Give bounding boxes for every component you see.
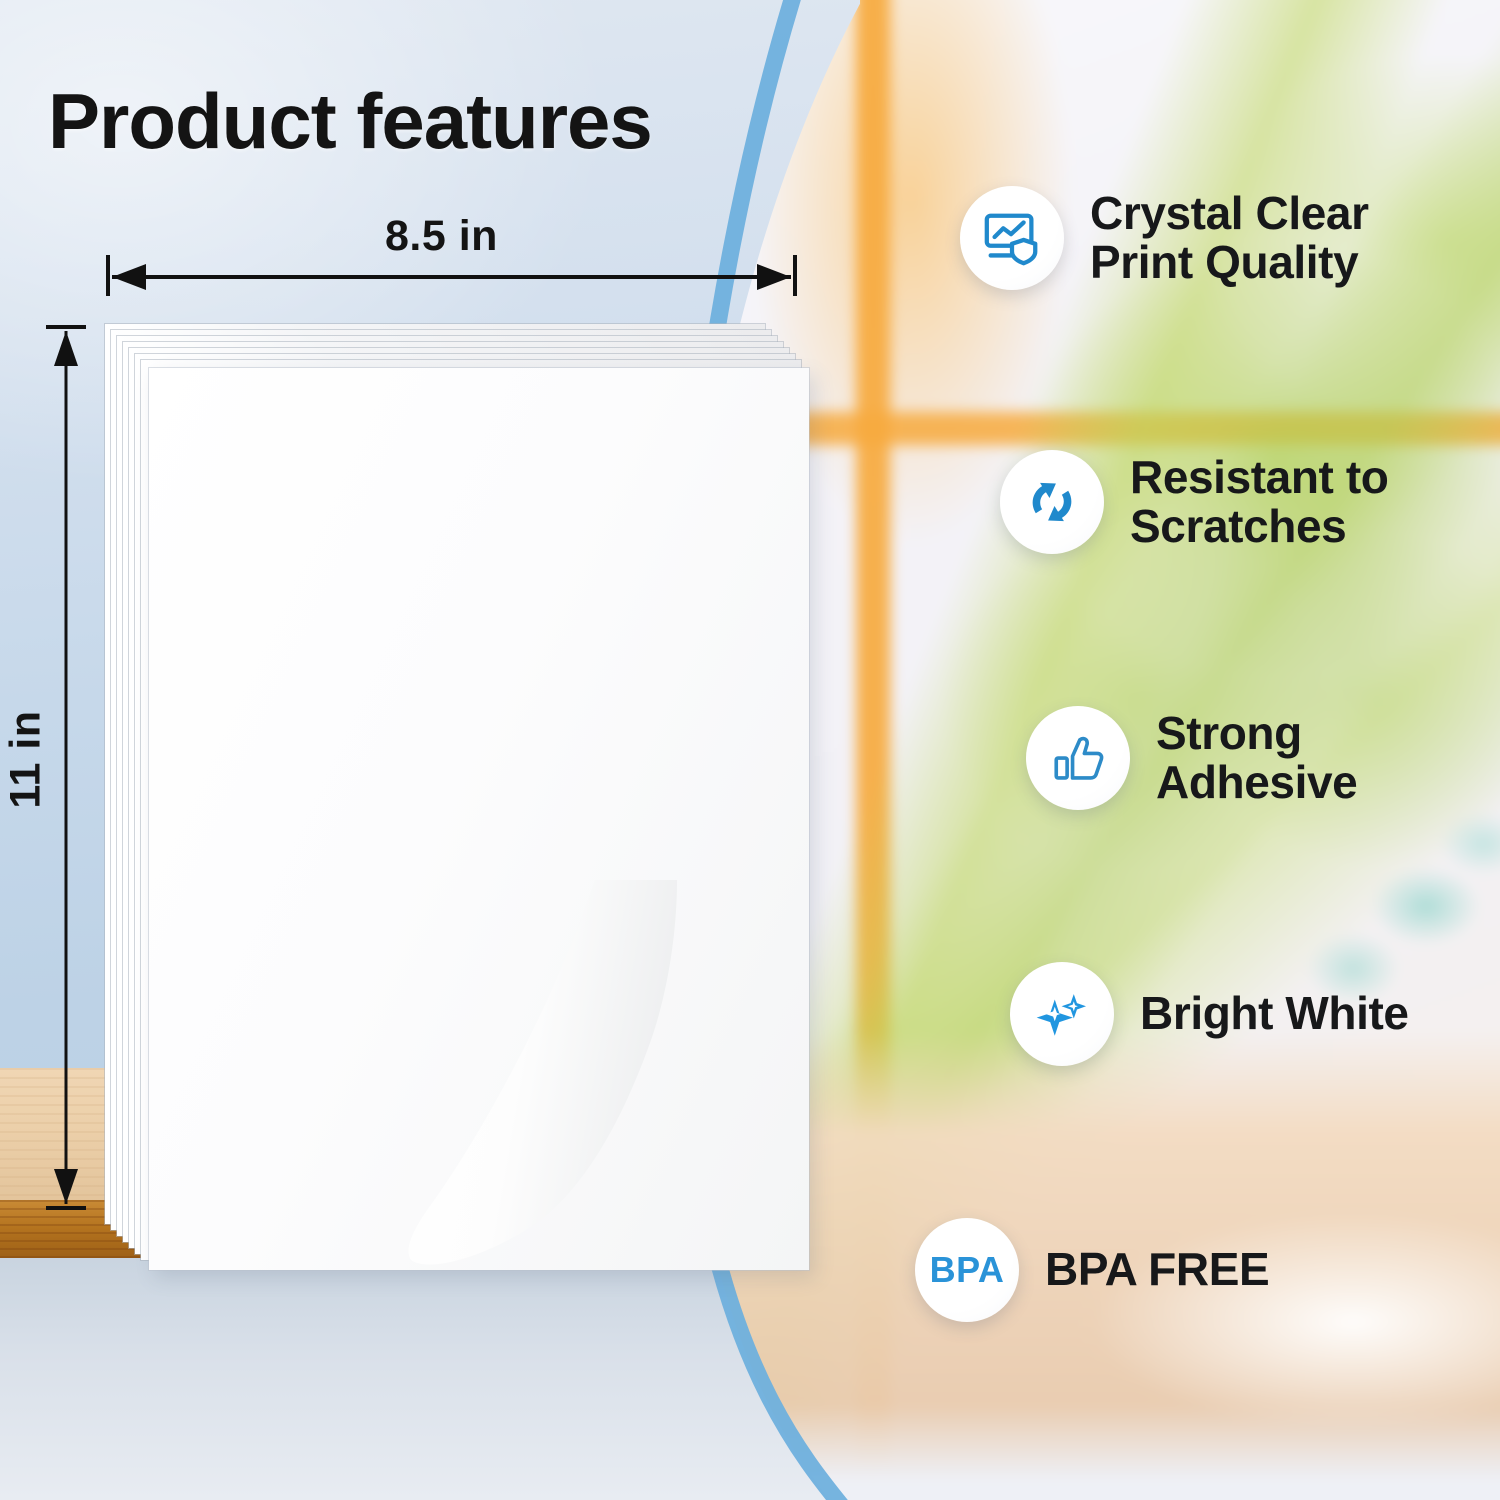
feature-label: Crystal Clear Print Quality — [1090, 189, 1369, 287]
feature-item[interactable]: Bright White — [1010, 962, 1409, 1066]
feature-list: Crystal Clear Print Quality Resistant to… — [960, 0, 1500, 1500]
product-feature-infographic: 8.5 in 11 in Product features Crystal Cl… — [0, 0, 1500, 1500]
feature-label: BPA FREE — [1045, 1245, 1269, 1294]
thumbs-up-icon — [1026, 706, 1130, 810]
feature-item[interactable]: Crystal Clear Print Quality — [960, 186, 1369, 290]
page-title: Product features — [48, 76, 652, 167]
feature-label: Resistant to Scratches — [1130, 453, 1388, 551]
sparkle-stars-icon — [1010, 962, 1114, 1066]
feature-item[interactable]: BPA BPA FREE — [915, 1218, 1269, 1322]
height-dimension-label: 11 in — [2, 710, 51, 808]
monitor-chart-shield-icon — [960, 186, 1064, 290]
feature-item[interactable]: Resistant to Scratches — [1000, 450, 1388, 554]
refresh-cycle-arrows-icon — [1000, 450, 1104, 554]
bpa-badge-icon: BPA — [915, 1218, 1019, 1322]
paper-stack — [105, 320, 805, 1270]
width-dimension-label: 8.5 in — [385, 212, 498, 261]
bpa-badge-text: BPA — [930, 1249, 1005, 1291]
feature-item[interactable]: Strong Adhesive — [1026, 706, 1357, 810]
feature-label: Bright White — [1140, 989, 1409, 1038]
feature-label: Strong Adhesive — [1156, 709, 1357, 807]
